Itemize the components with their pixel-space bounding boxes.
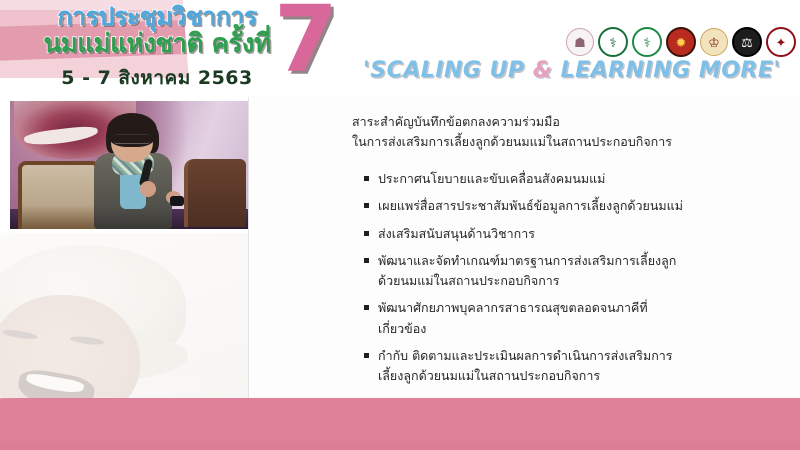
conference-edition-number: 7 [274, 0, 336, 86]
conference-title-line-1: การประชุมวิชาการ [22, 4, 292, 30]
left-media-column [0, 95, 248, 450]
bullet-text-primary: พัฒนาและจัดทำเกณฑ์มาตรฐานการส่งเสริมการเ… [378, 253, 676, 268]
conference-date: 5 - 7 สิงหาคม 2563 [22, 63, 292, 93]
presentation-clicker [170, 196, 184, 206]
ribbon-bottom-strip [0, 442, 800, 450]
bullet-text-primary: ส่งเสริมสนับสนุนด้านวิชาการ [378, 226, 535, 241]
list-item: เผยแพร่สื่อสารประชาสัมพันธ์ข้อมูลการเลี้… [364, 196, 784, 216]
royal-patronage-seal-logo: ☗ [566, 28, 594, 56]
thai-breastfeeding-center-glyph: ✹ [676, 36, 687, 49]
list-item: พัฒนาศักยภาพบุคลากรสาธารณสุขตลอดจนภาคีที… [364, 298, 784, 339]
content-heading-line-1: สาระสำคัญบันทึกข้อตกลงความร่วมมือ [352, 112, 782, 132]
slogan-part-1: 'SCALING UP [363, 58, 533, 83]
conference-slogan: 'SCALING UP & LEARNING MORE' [363, 58, 781, 83]
bullet-text-primary: เผยแพร่สื่อสารประชาสัมพันธ์ข้อมูลการเลี้… [378, 198, 683, 213]
department-of-health-glyph: ⚕ [643, 36, 650, 49]
bullet-text-primary: ประกาศนโยบายและขับเคลื่อนสังคมนมแม่ [378, 171, 605, 186]
stage-chair-right [184, 159, 246, 227]
thai-breastfeeding-center-logo: ✹ [666, 27, 696, 57]
ministry-of-labour-logo: ⚖ [732, 27, 762, 57]
royal-patronage-seal-glyph: ☗ [574, 36, 586, 49]
bullet-text-continuation: ด้วยนมแม่ในสถานประกอบกิจการ [378, 271, 784, 291]
conference-title-block: การประชุมวิชาการ นมแม่แห่งชาติ ครั้งที่ … [22, 4, 292, 93]
ministry-of-labour-glyph: ⚖ [741, 36, 753, 49]
content-bullet-list: ประกาศนโยบายและขับเคลื่อนสังคมนมแม่ เผยแ… [364, 169, 784, 393]
slogan-part-2: LEARNING MORE' [552, 58, 780, 83]
list-item: พัฒนาและจัดทำเกณฑ์มาตรฐานการส่งเสริมการเ… [364, 251, 784, 292]
list-item: ประกาศนโยบายและขับเคลื่อนสังคมนมแม่ [364, 169, 784, 189]
conference-title-line-2: นมแม่แห่งชาติ ครั้งที่ [22, 31, 292, 58]
royal-crest-logo: ♔ [700, 28, 728, 56]
royal-crest-glyph: ♔ [708, 36, 720, 49]
stage-chair-left [18, 161, 100, 229]
speaker-glasses-icon [114, 134, 150, 144]
content-heading: สาระสำคัญบันทึกข้อตกลงความร่วมมือ ในการส… [352, 112, 782, 153]
list-item: กำกับ ติดตามและประเมินผลการดำเนินการส่งเ… [364, 346, 784, 387]
content-divider [248, 97, 249, 427]
presentation-slide: การประชุมวิชาการ นมแม่แห่งชาติ ครั้งที่ … [0, 0, 800, 450]
ministry-of-public-health-glyph: ⚕ [609, 36, 616, 49]
bullet-text-continuation: เลี้ยงลูกด้วยนมแม่ในสถานประกอบกิจการ [378, 366, 784, 386]
slide-content-panel: สาระสำคัญบันทึกข้อตกลงความร่วมมือ ในการส… [252, 95, 800, 425]
ministry-of-public-health-logo: ⚕ [598, 27, 628, 57]
bullet-text-primary: กำกับ ติดตามและประเมินผลการดำเนินการส่งเ… [378, 348, 673, 363]
organizer-logo-row: ☗ ⚕ ⚕ ✹ ♔ ⚖ ✦ ✦✦✦ สสส สำนักงานกองทุนสนับ… [566, 27, 800, 57]
university-emblem-logo: ✦ [766, 27, 796, 57]
speaker-video-thumbnail[interactable] [10, 101, 248, 229]
university-emblem-glyph: ✦ [776, 36, 787, 49]
content-heading-line-2: ในการส่งเสริมการเลี้ยงลูกด้วยนมแม่ในสถาน… [352, 132, 782, 152]
list-item: ส่งเสริมสนับสนุนด้านวิชาการ [364, 224, 784, 244]
bottom-pink-ribbon [0, 398, 800, 450]
slogan-ampersand: & [533, 58, 553, 83]
department-of-health-logo: ⚕ [632, 27, 662, 57]
bullet-text-continuation: เกี่ยวข้อง [378, 319, 784, 339]
speaker-hand-holding-mic [140, 181, 156, 197]
slide-header-banner: การประชุมวิชาการ นมแม่แห่งชาติ ครั้งที่ … [0, 0, 800, 95]
bullet-text-primary: พัฒนาศักยภาพบุคลากรสาธารณสุขตลอดจนภาคีที… [378, 300, 648, 315]
